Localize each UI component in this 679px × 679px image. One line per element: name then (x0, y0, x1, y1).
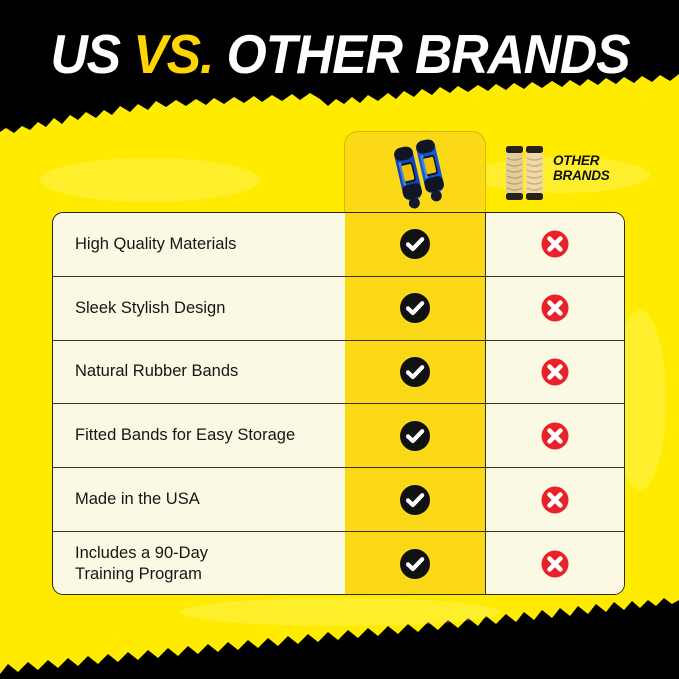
other-cell (486, 532, 624, 595)
other-brands-product-image (503, 142, 547, 204)
title-part-other-brands: OTHER BRANDS (213, 23, 629, 85)
page-title: US VS. OTHER BRANDS (0, 21, 679, 91)
cross-circle-icon (540, 229, 570, 259)
title-text: US VS. OTHER BRANDS (50, 21, 629, 87)
product-header-row: OTHER BRANDS (0, 132, 679, 214)
feature-label: Made in the USA (53, 468, 345, 531)
other-brands-label: OTHER BRANDS (553, 153, 610, 183)
feature-label: Natural Rubber Bands (53, 341, 345, 404)
table-row: Natural Rubber Bands (53, 341, 624, 405)
feature-label: Sleek Stylish Design (53, 277, 345, 340)
us-product-image (385, 138, 455, 210)
cross-circle-icon (540, 421, 570, 451)
cross-circle-icon (540, 485, 570, 515)
check-circle-icon (400, 421, 430, 451)
us-cell (345, 532, 486, 595)
feature-label: Fitted Bands for Easy Storage (53, 404, 345, 467)
cross-circle-icon (540, 357, 570, 387)
us-cell (345, 213, 486, 276)
cross-circle-icon (540, 293, 570, 323)
table-row: High Quality Materials (53, 213, 624, 277)
us-cell (345, 341, 486, 404)
other-cell (486, 277, 624, 340)
check-circle-icon (400, 293, 430, 323)
other-cell (486, 341, 624, 404)
table-row: Made in the USA (53, 468, 624, 532)
comparison-infographic: US VS. OTHER BRANDS (0, 0, 679, 679)
table-row: Fitted Bands for Easy Storage (53, 404, 624, 468)
feature-label: High Quality Materials (53, 213, 345, 276)
check-circle-icon (400, 549, 430, 579)
table-row: Includes a 90-Day Training Program (53, 532, 624, 595)
title-part-us: US (50, 23, 133, 85)
us-cell (345, 277, 486, 340)
us-cell (345, 404, 486, 467)
cross-circle-icon (540, 549, 570, 579)
other-cell (486, 468, 624, 531)
title-accent-vs: VS. (133, 23, 213, 85)
other-cell (486, 404, 624, 467)
feature-label: Includes a 90-Day Training Program (53, 532, 345, 595)
comparison-table: High Quality Materials Sleek Stylish Des… (52, 212, 625, 595)
check-circle-icon (400, 357, 430, 387)
us-cell (345, 468, 486, 531)
check-circle-icon (400, 485, 430, 515)
check-circle-icon (400, 229, 430, 259)
other-cell (486, 213, 624, 276)
table-row: Sleek Stylish Design (53, 277, 624, 341)
